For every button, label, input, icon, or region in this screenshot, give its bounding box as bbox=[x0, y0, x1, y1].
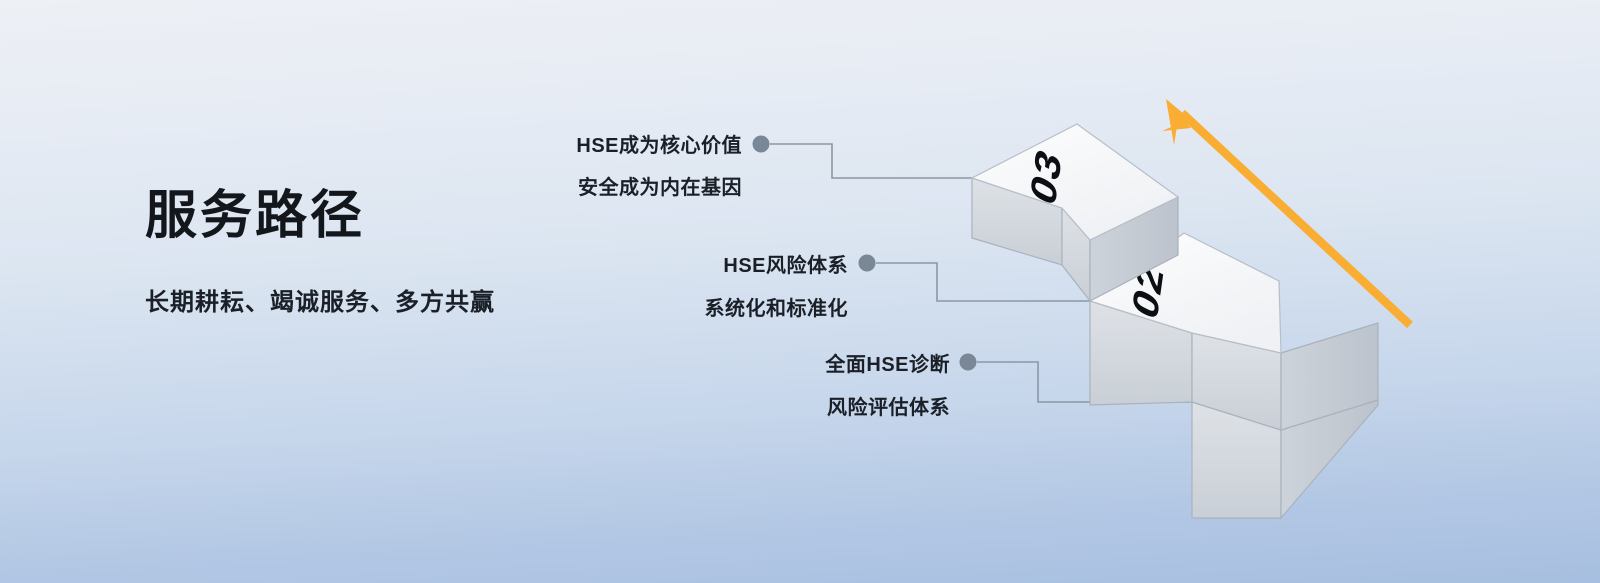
connector-line-02 bbox=[876, 263, 1090, 301]
slide-canvas: 服务路径 长期耕耘、竭诚服务、多方共赢 bbox=[0, 0, 1600, 583]
connector-dot-02 bbox=[859, 255, 876, 272]
callout-01: 全面HSE诊断 风险评估体系 bbox=[824, 352, 950, 419]
callout-03-line1: HSE成为核心价值 bbox=[576, 133, 742, 157]
connector-dot-03 bbox=[753, 136, 770, 153]
connector-dot-01 bbox=[960, 354, 977, 371]
connector-step-03 bbox=[753, 136, 973, 179]
growth-arrow-head-fill bbox=[1166, 99, 1196, 145]
callout-02-line2: 系统化和标准化 bbox=[705, 296, 849, 320]
callout-02: HSE风险体系 系统化和标准化 bbox=[705, 253, 849, 320]
callout-02-line1: HSE风险体系 bbox=[723, 253, 848, 277]
callout-03-line2: 安全成为内在基因 bbox=[578, 175, 742, 199]
service-path-diagram: 01 02 03 bbox=[0, 0, 1600, 583]
callout-03: HSE成为核心价值 安全成为内在基因 bbox=[576, 133, 742, 199]
callout-01-line1: 全面HSE诊断 bbox=[824, 352, 950, 376]
connector-line-03 bbox=[770, 144, 972, 178]
callout-01-line2: 风险评估体系 bbox=[827, 395, 950, 419]
